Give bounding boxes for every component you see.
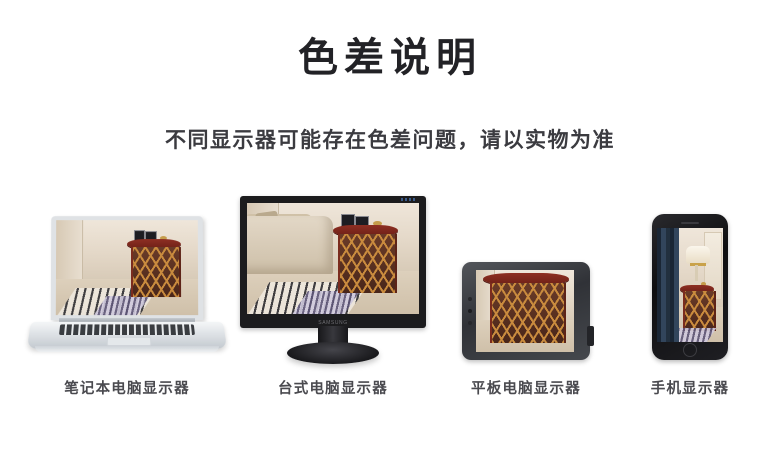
device-label-tablet: 平板电脑显示器 bbox=[456, 382, 596, 397]
monitor-stand-base bbox=[287, 342, 379, 364]
tablet-screen bbox=[476, 270, 574, 352]
monitor-screen bbox=[247, 203, 419, 314]
monitor-led-indicator bbox=[401, 198, 417, 201]
device-card-tablet: 平板电脑显示器 bbox=[456, 262, 596, 397]
tablet-body bbox=[462, 262, 590, 360]
laptop-screen-photo bbox=[56, 220, 198, 315]
photo-side-table bbox=[488, 273, 564, 348]
photo-side-table bbox=[130, 239, 178, 302]
laptop-keyboard bbox=[59, 324, 195, 335]
page-subtitle: 不同显示器可能存在色差问题，请以实物为准 bbox=[0, 128, 780, 153]
monitor-bezel: SAMSUNG bbox=[240, 196, 426, 328]
laptop-front-edge bbox=[35, 346, 219, 352]
laptop-screen bbox=[56, 220, 198, 315]
page-title: 色差说明 bbox=[0, 36, 780, 80]
smartphone-icon bbox=[652, 214, 728, 360]
phone-home-button[interactable] bbox=[683, 343, 697, 357]
tablet-port bbox=[587, 326, 594, 346]
device-label-laptop: 笔记本电脑显示器 bbox=[22, 382, 232, 397]
phone-screen-photo bbox=[657, 228, 723, 342]
device-comparison-row: 笔记本电脑显示器 bbox=[0, 196, 780, 396]
laptop-lid bbox=[51, 216, 203, 320]
phone-body bbox=[652, 214, 728, 360]
monitor-screen-photo bbox=[247, 203, 419, 314]
tablet-screen-photo bbox=[476, 270, 574, 352]
tablet-icon bbox=[462, 262, 590, 360]
photo-sofa bbox=[247, 216, 333, 274]
photo-lamp-shade bbox=[686, 246, 710, 264]
device-label-phone: 手机显示器 bbox=[620, 382, 760, 397]
photo-table-lattice bbox=[338, 234, 397, 293]
laptop-base bbox=[27, 321, 227, 348]
photo-table-lattice bbox=[490, 283, 566, 343]
photo-table-lattice bbox=[131, 247, 180, 297]
photo-curtain bbox=[657, 228, 679, 342]
device-card-desktop: SAMSUNG 台式电脑显示器 bbox=[240, 196, 426, 397]
device-card-laptop: 笔记本电脑显示器 bbox=[22, 216, 232, 397]
photo-lamp-stem bbox=[695, 265, 698, 281]
device-label-desktop: 台式电脑显示器 bbox=[240, 382, 426, 397]
desktop-monitor-icon: SAMSUNG bbox=[240, 196, 426, 364]
photo-side-table bbox=[336, 225, 394, 298]
laptop-icon bbox=[29, 216, 225, 358]
device-card-phone: 手机显示器 bbox=[620, 214, 760, 397]
photo-wall-edge bbox=[56, 220, 83, 279]
photo-table-lattice bbox=[683, 291, 716, 331]
phone-screen bbox=[657, 228, 723, 342]
photo-lamp-ring bbox=[690, 263, 706, 266]
phone-speaker-icon bbox=[681, 222, 699, 224]
laptop-trackpad bbox=[107, 336, 152, 345]
tablet-camera-icon bbox=[468, 309, 472, 313]
